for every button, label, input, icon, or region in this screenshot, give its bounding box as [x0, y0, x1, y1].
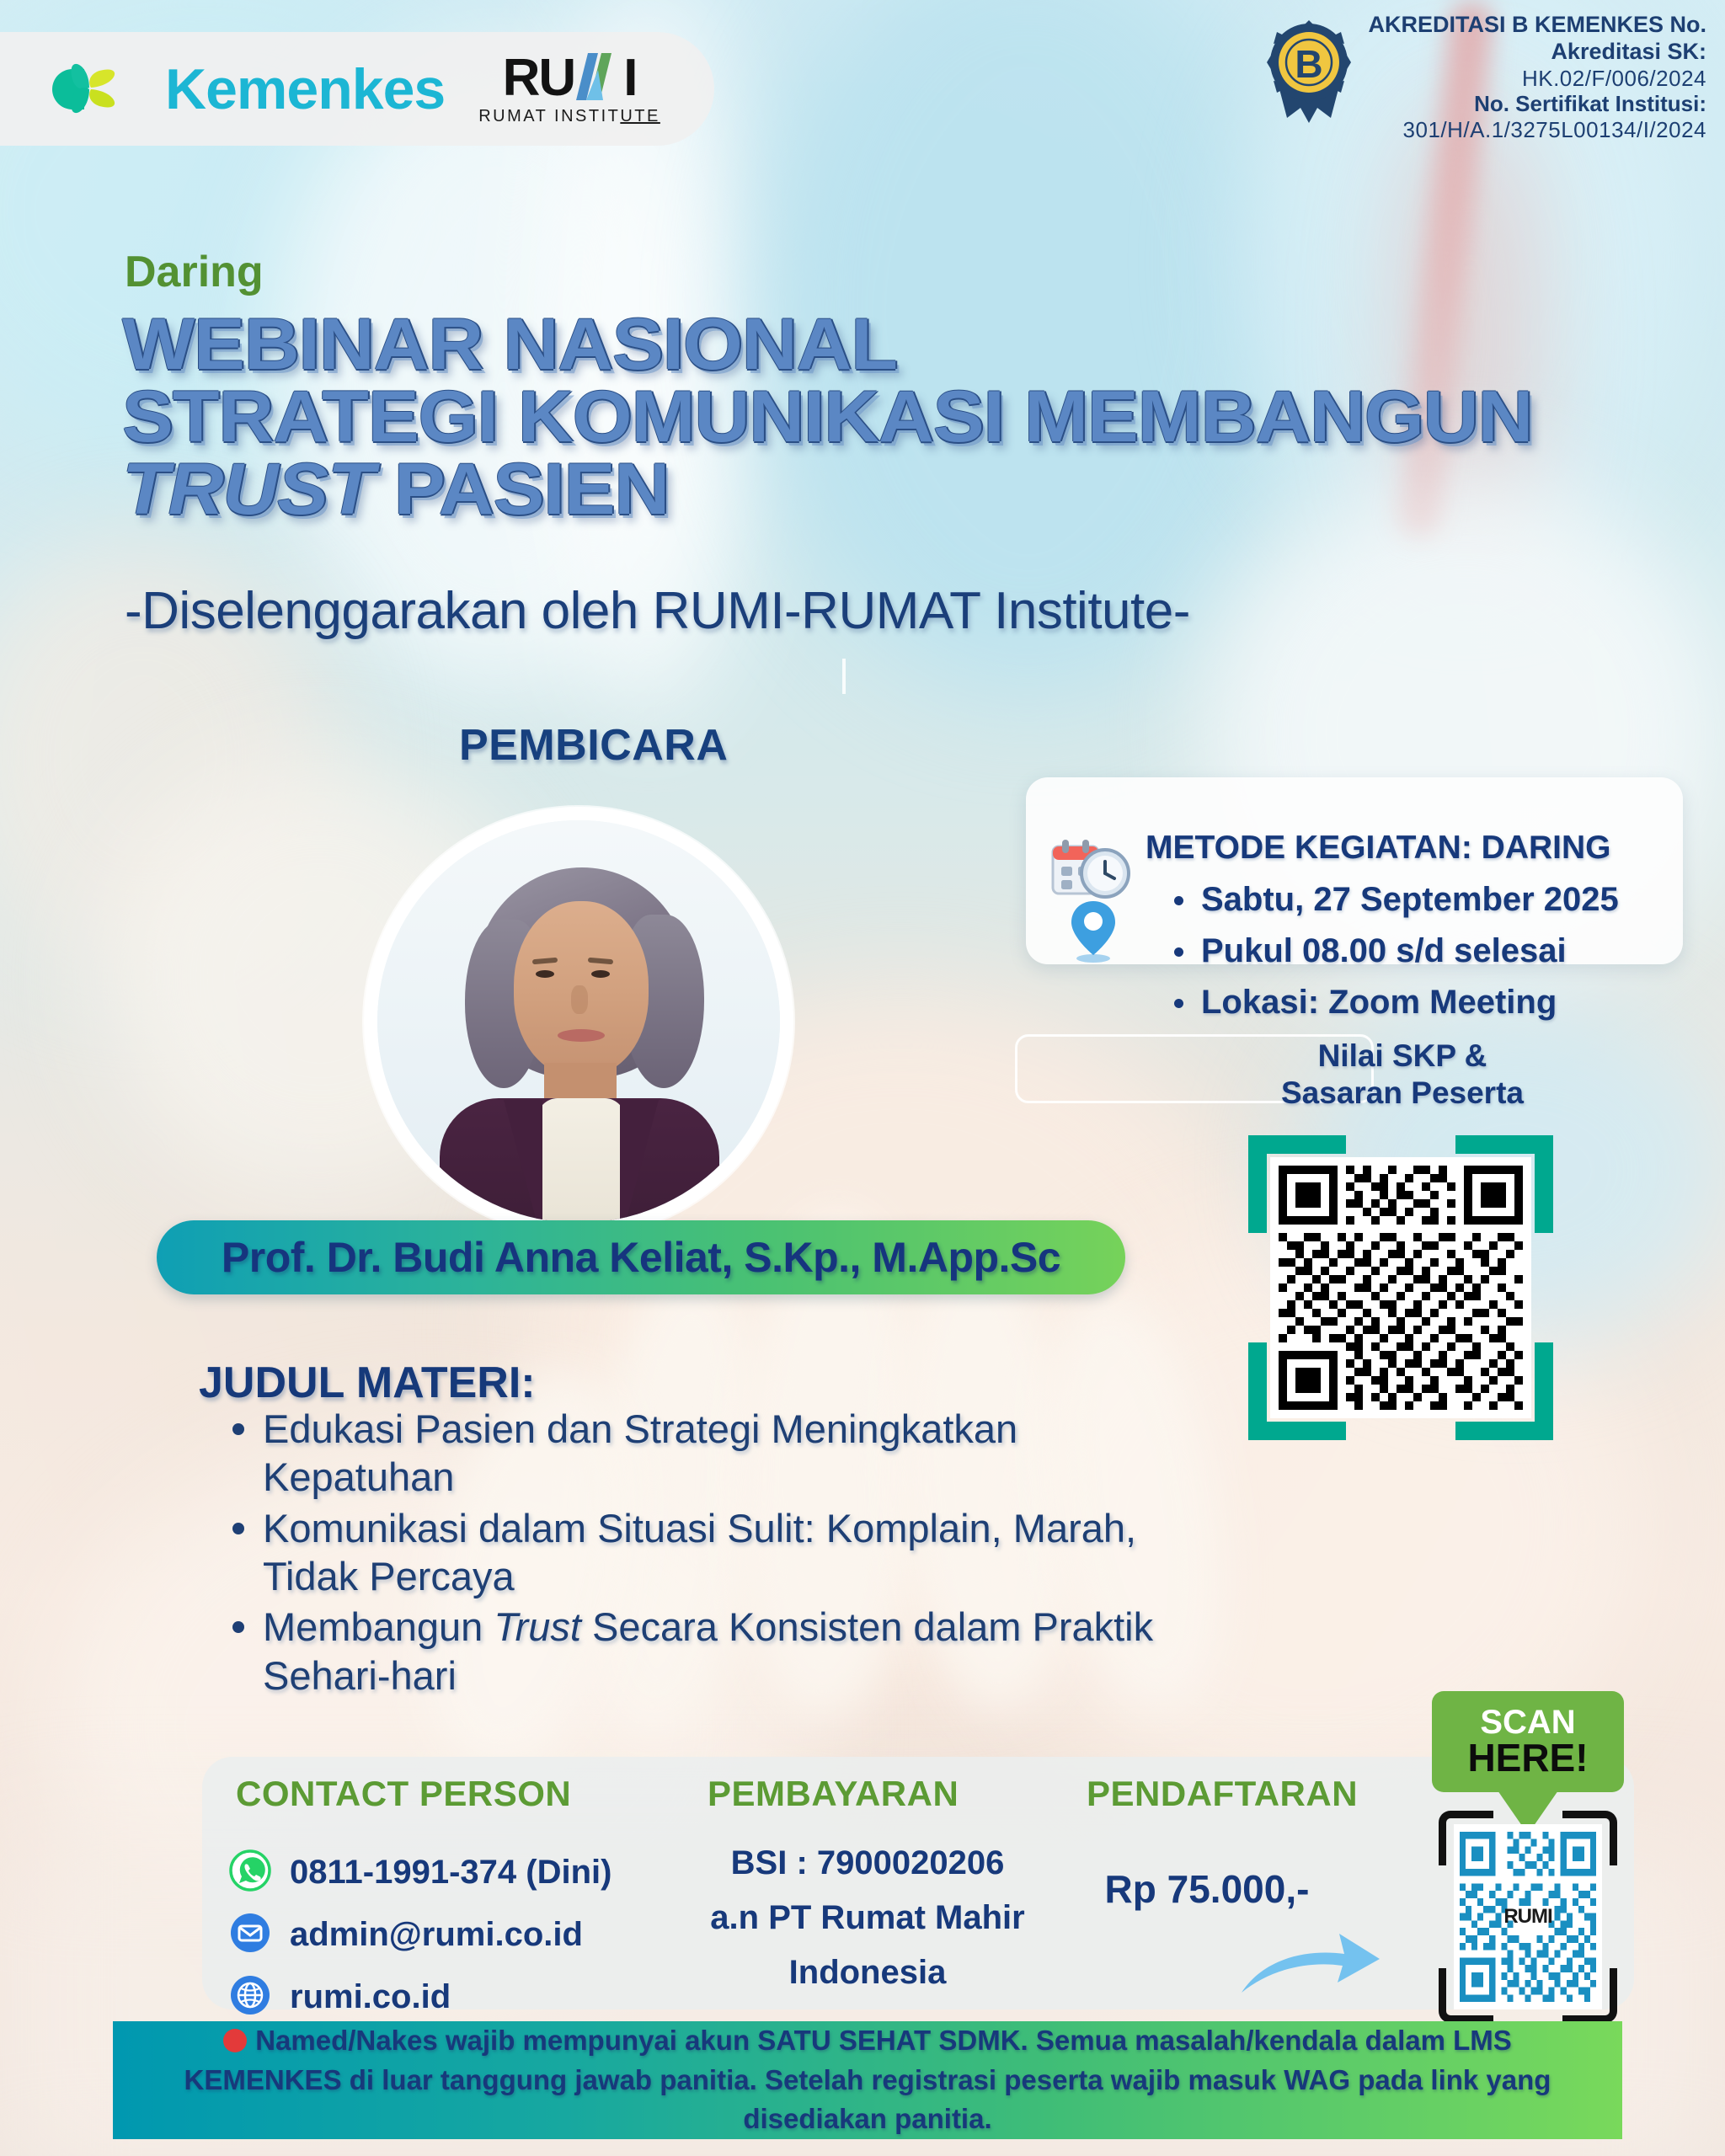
- title-line-3: TRUST PASIEN: [122, 453, 1720, 526]
- location-pin-icon: [1070, 899, 1117, 963]
- email-address: admin@rumi.co.id: [290, 1916, 583, 1954]
- registration-qr-code[interactable]: RUMI: [1439, 1811, 1617, 2023]
- accreditation-line-4: No. Sertifikat Institusi:: [1368, 91, 1706, 117]
- logo-bar: Kemenkes RU I RUMAT INSTITUTE: [0, 32, 714, 146]
- contact-list: 0811-1991-374 (Dini) admin@rumi.co.id: [229, 1841, 611, 2028]
- rumi-wordmark: RU I: [503, 51, 637, 104]
- event-detail-item: Lokasi: Zoom Meeting: [1201, 977, 1619, 1028]
- whatsapp-number: 0811-1991-374 (Dini): [290, 1854, 611, 1892]
- payment-name-2: Indonesia: [691, 1945, 1044, 2000]
- title-line-3-italic: TRUST: [122, 449, 374, 530]
- materi-item: Komunikasi dalam Situasi Sulit: Komplain…: [263, 1504, 1156, 1601]
- materi-list: Edukasi Pasien dan Strategi Meningkatkan…: [217, 1405, 1156, 1702]
- contact-heading: CONTACT PERSON: [236, 1774, 571, 1814]
- contact-row-website[interactable]: rumi.co.id: [229, 1966, 611, 2028]
- rumi-logo: RU I RUMAT INSTITUTE: [478, 51, 660, 126]
- title-line-1: WEBINAR NASIONAL: [122, 308, 1720, 381]
- event-detail-item: Sabtu, 27 September 2025: [1201, 874, 1619, 926]
- speaker-heading: PEMBICARA: [459, 720, 728, 771]
- divider-tick: [842, 659, 846, 694]
- website-url: rumi.co.id: [290, 1978, 451, 2016]
- rumi-tagline: RUMAT INSTITUTE: [478, 107, 660, 126]
- poster-root: Kemenkes RU I RUMAT INSTITUTE: [0, 0, 1725, 2156]
- title-line-3-rest: PASIEN: [374, 449, 670, 530]
- materi-item: Membangun Trust Secara Konsisten dalam P…: [263, 1603, 1156, 1700]
- kemenkes-wordmark: Kemenkes: [165, 56, 445, 122]
- page-title: WEBINAR NASIONAL STRATEGI KOMUNIKASI MEM…: [122, 308, 1720, 526]
- event-detail-item: Pukul 08.00 s/d selesai: [1201, 926, 1619, 977]
- event-details-list: Sabtu, 27 September 2025 Pukul 08.00 s/d…: [1164, 842, 1619, 1027]
- contact-row-email[interactable]: admin@rumi.co.id: [229, 1903, 611, 1966]
- svg-text:B: B: [1295, 42, 1323, 86]
- accreditation-block: B AKREDITASI B KEMENKES No. Akreditasi S…: [1262, 7, 1706, 143]
- materi-heading: JUDUL MATERI:: [199, 1358, 536, 1408]
- payment-name-1: a.n PT Rumat Mahir: [691, 1891, 1044, 1945]
- accreditation-line-3: HK.02/F/006/2024: [1368, 66, 1706, 92]
- footer-note: Named/Nakes wajib mempunyai akun SATU SE…: [152, 2021, 1583, 2140]
- scan-here-tag: SCAN HERE!: [1432, 1691, 1624, 1792]
- skp-label: Nilai SKP & Sasaran Peserta: [1226, 1038, 1579, 1113]
- email-icon: [229, 1912, 271, 1958]
- payment-heading: PEMBAYARAN: [708, 1774, 959, 1814]
- speaker-photo: [377, 820, 780, 1223]
- mode-label: Daring: [125, 247, 264, 297]
- payment-details: BSI : 7900020206 a.n PT Rumat Mahir Indo…: [691, 1836, 1044, 1999]
- materi-item: Edukasi Pasien dan Strategi Meningkatkan…: [263, 1405, 1156, 1502]
- scan-line-2: HERE!: [1467, 1738, 1588, 1777]
- qr-image: RUMI: [1454, 1824, 1602, 2009]
- qr-center-logo: RUMI: [1503, 1905, 1551, 1929]
- speaker-name: Prof. Dr. Budi Anna Keliat, S.Kp., M.App…: [222, 1233, 1060, 1282]
- registration-price: Rp 75.000,-: [1068, 1866, 1346, 1912]
- calendar-clock-icon: [1051, 838, 1132, 900]
- globe-icon: [229, 1974, 271, 2020]
- accreditation-line-2: Akreditasi SK:: [1368, 39, 1706, 66]
- footer-note-bar: Named/Nakes wajib mempunyai akun SATU SE…: [113, 2021, 1622, 2139]
- kemenkes-logo-icon: [47, 45, 136, 133]
- red-dot-icon: [223, 2029, 247, 2052]
- speaker-name-badge: Prof. Dr. Budi Anna Keliat, S.Kp., M.App…: [157, 1220, 1125, 1294]
- accreditation-line-5: 301/H/A.1/3275L00134/I/2024: [1368, 117, 1706, 143]
- skp-line-2: Sasaran Peserta: [1226, 1075, 1579, 1112]
- arrow-icon: [1238, 1920, 1381, 1998]
- accreditation-text: AKREDITASI B KEMENKES No. Akreditasi SK:…: [1368, 7, 1706, 143]
- skp-line-1: Nilai SKP &: [1226, 1038, 1579, 1075]
- scan-line-1: SCAN: [1480, 1706, 1575, 1738]
- title-line-2: STRATEGI KOMUNIKASI MEMBANGUN: [122, 381, 1720, 453]
- registration-heading: PENDAFTARAN: [1087, 1774, 1358, 1814]
- accreditation-line-1: AKREDITASI B KEMENKES No.: [1368, 12, 1706, 39]
- skp-qr-code[interactable]: [1248, 1135, 1553, 1440]
- accreditation-seal-icon: B: [1262, 20, 1356, 128]
- contact-row-whatsapp[interactable]: 0811-1991-374 (Dini): [229, 1841, 611, 1903]
- payment-account: BSI : 7900020206: [691, 1836, 1044, 1891]
- whatsapp-icon: [229, 1849, 271, 1896]
- qr-image: [1270, 1157, 1531, 1418]
- page-subtitle: -Diselenggarakan oleh RUMI-RUMAT Institu…: [125, 581, 1190, 641]
